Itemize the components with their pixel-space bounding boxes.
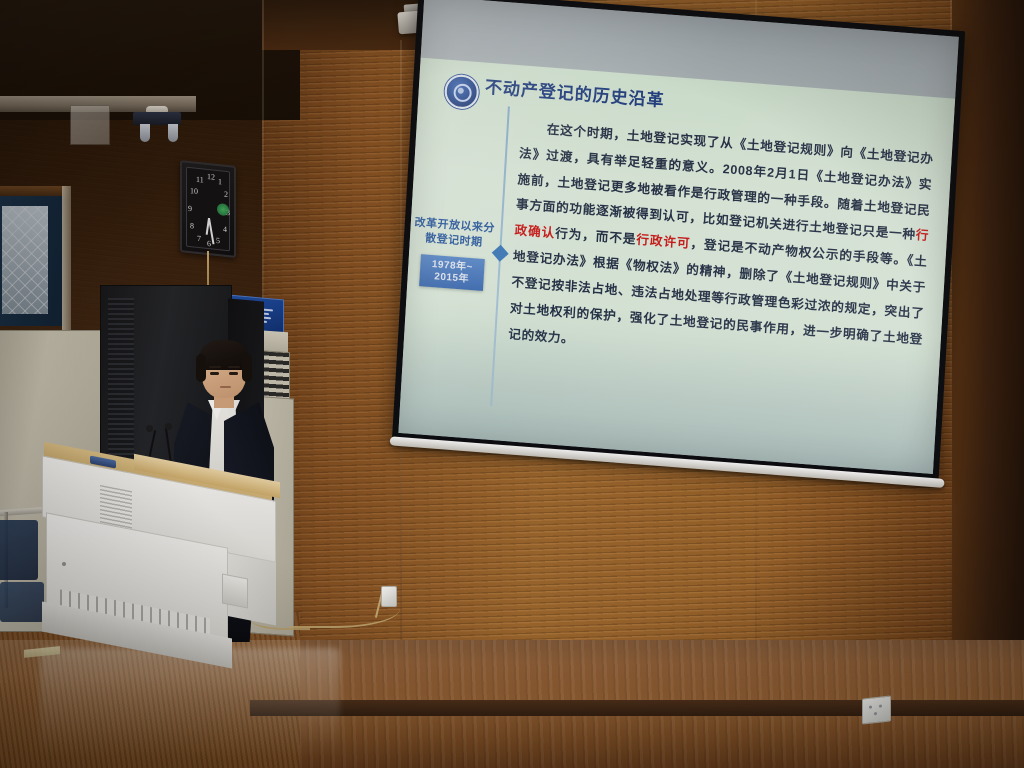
lectern-lock[interactable] bbox=[62, 562, 66, 566]
presenter-eye bbox=[210, 372, 219, 375]
clock-numeral: 10 bbox=[190, 187, 198, 196]
wall-clock: 12 1 2 3 4 5 6 7 8 9 10 11 bbox=[180, 160, 236, 258]
ceiling-lamp-icon bbox=[140, 124, 150, 142]
clock-numeral: 5 bbox=[216, 237, 220, 245]
lectern-side-shelf bbox=[222, 573, 248, 608]
clock-numeral: 1 bbox=[218, 178, 222, 186]
clock-numeral: 11 bbox=[196, 176, 204, 185]
wall-outlet-left[interactable] bbox=[381, 586, 397, 607]
wall-speaker bbox=[70, 105, 110, 145]
clock-numeral: 6 bbox=[207, 240, 211, 248]
clock-face: 12 1 2 3 4 5 6 7 8 9 10 11 bbox=[186, 167, 230, 252]
clock-numeral: 8 bbox=[190, 222, 194, 230]
presentation-room-photo: 12 1 2 3 4 5 6 7 8 9 10 11 bbox=[0, 0, 1024, 768]
slide-year-badge: 1978年~ 2015年 bbox=[419, 254, 485, 291]
highlight-term: 行政许可 bbox=[636, 233, 691, 251]
lattice-glass-door[interactable] bbox=[0, 196, 65, 326]
presenter-mouth bbox=[220, 386, 231, 388]
ceiling-lamp-icon bbox=[168, 124, 178, 142]
presenter-eyebrow bbox=[228, 366, 240, 368]
clock-numeral: 12 bbox=[207, 173, 215, 182]
chair bbox=[0, 520, 38, 580]
door-glass-pane bbox=[2, 206, 48, 314]
presenter-hair-side bbox=[196, 354, 206, 382]
presenter-hair-side bbox=[242, 354, 252, 382]
presenter-eye bbox=[229, 372, 238, 375]
clock-numeral: 4 bbox=[223, 226, 227, 234]
floor-reflection bbox=[40, 648, 340, 758]
presenter-eyebrow bbox=[209, 366, 221, 368]
clock-indicator-light bbox=[217, 203, 229, 216]
screen-surface: 不动产登记的历史沿革 改革开放以来分散登记时期 1978年~ 2015年 在这个… bbox=[398, 0, 958, 474]
clock-numeral: 2 bbox=[224, 191, 228, 199]
highlight-term: 行政确认 bbox=[514, 224, 929, 244]
projection-screen: 不动产登记的历史沿革 改革开放以来分散登记时期 1978年~ 2015年 在这个… bbox=[391, 0, 969, 501]
wall-outlet-right[interactable] bbox=[862, 695, 891, 724]
clock-numeral: 7 bbox=[197, 235, 201, 243]
clock-numeral: 9 bbox=[188, 205, 192, 213]
slide-body-text: 在这个时期，土地登记实现了从《土地登记规则》向《土地登记办法》过渡，具有举足轻重… bbox=[508, 115, 935, 379]
slide-side-label: 改革开放以来分散登记时期 bbox=[412, 215, 498, 251]
door-jamb bbox=[62, 186, 71, 336]
lectern bbox=[34, 452, 272, 662]
microphone-head bbox=[146, 425, 153, 432]
baseboard bbox=[250, 700, 1024, 716]
presentation-slide: 不动产登记的历史沿革 改革开放以来分散登记时期 1978年~ 2015年 在这个… bbox=[398, 0, 958, 474]
